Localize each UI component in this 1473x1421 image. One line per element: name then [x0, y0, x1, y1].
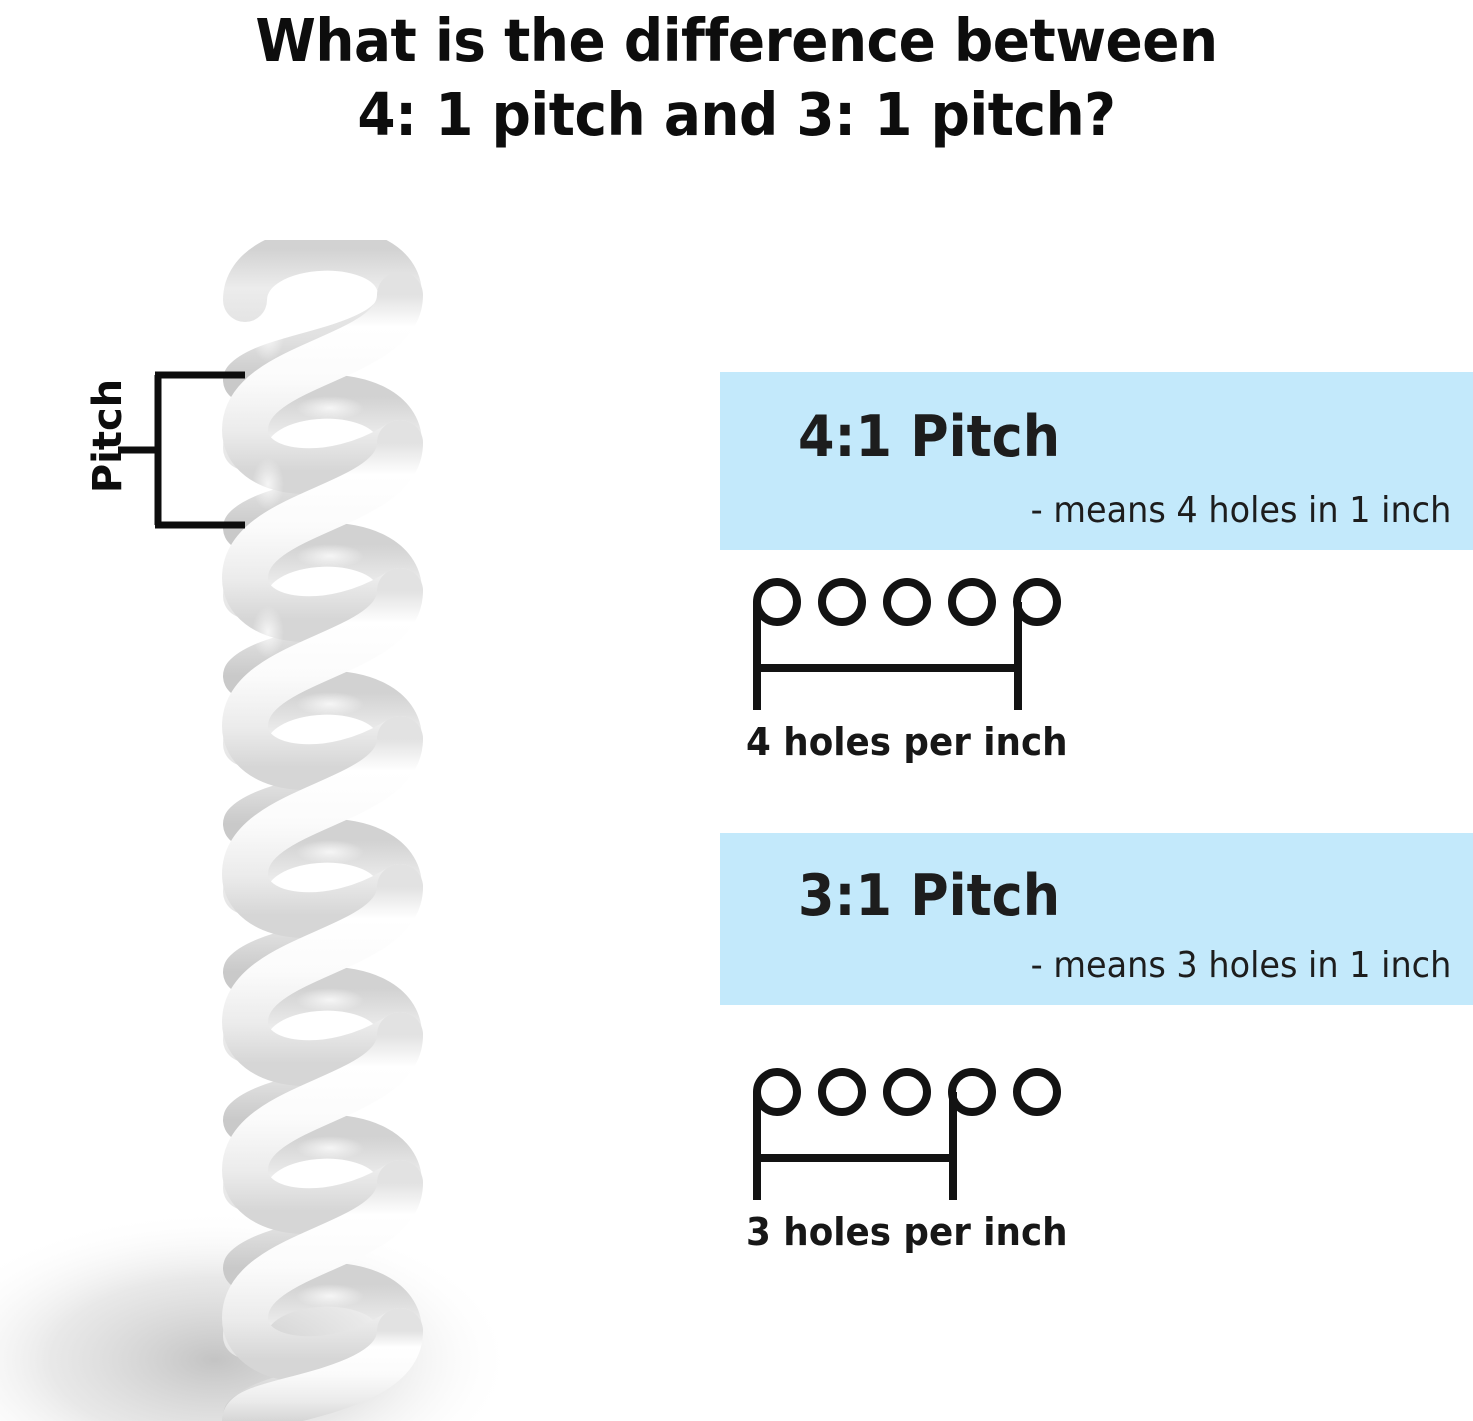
hole-circle	[822, 1072, 862, 1112]
infographic-page: What is the difference between 4: 1 pitc…	[0, 0, 1473, 1421]
banner-subtitle-4-1: - means 4 holes in 1 inch	[1030, 490, 1451, 531]
pitch-label: Pitch	[85, 356, 131, 516]
hole-circle	[1017, 1072, 1057, 1112]
hole-circle	[757, 1072, 797, 1112]
hole-circle	[952, 582, 992, 622]
hole-circle	[1017, 582, 1057, 622]
holes-svg-3-1	[740, 1060, 1080, 1210]
banner-title-3-1: 3:1 Pitch	[798, 863, 1060, 929]
holes-caption-3-1: 3 holes per inch	[746, 1210, 1068, 1254]
hole-circle	[952, 1072, 992, 1112]
holes-diagram-3-1: 3 holes per inch	[740, 1060, 1080, 1210]
hole-circle	[757, 582, 797, 622]
banner-pitch-3-1: 3:1 Pitch - means 3 holes in 1 inch	[720, 833, 1473, 1005]
banner-title-4-1: 4:1 Pitch	[798, 404, 1060, 470]
hole-circle	[822, 582, 862, 622]
holes-diagram-4-1: 4 holes per inch	[740, 570, 1080, 720]
holes-svg-4-1	[740, 570, 1080, 720]
hole-circle	[887, 582, 927, 622]
holes-caption-4-1: 4 holes per inch	[746, 720, 1068, 764]
title-line-1: What is the difference between	[52, 4, 1422, 78]
banner-subtitle-3-1: - means 3 holes in 1 inch	[1030, 945, 1451, 986]
hole-circle	[887, 1072, 927, 1112]
pitch-measurement: Pitch	[60, 355, 310, 555]
banner-pitch-4-1: 4:1 Pitch - means 4 holes in 1 inch	[720, 372, 1473, 550]
page-title: What is the difference between 4: 1 pitc…	[0, 4, 1473, 152]
title-line-2: 4: 1 pitch and 3: 1 pitch?	[52, 78, 1422, 152]
